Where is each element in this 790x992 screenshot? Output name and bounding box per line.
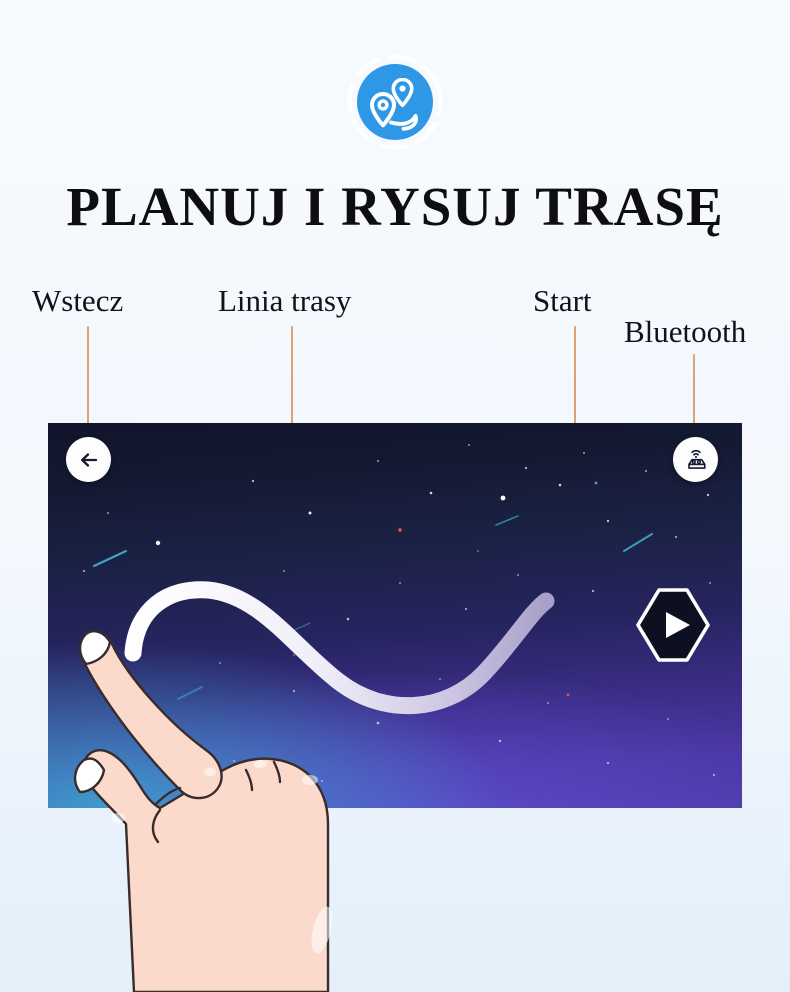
callout-label-bluetooth: Bluetooth bbox=[624, 314, 746, 350]
callout-label-linia-trasy: Linia trasy bbox=[218, 283, 351, 319]
route-pins-circle-icon bbox=[345, 52, 445, 152]
page-root: PLANUJ I RYSUJ TRASĘ Wstecz Linia trasy … bbox=[0, 0, 790, 992]
pointing-hand-illustration bbox=[60, 600, 420, 992]
callout-label-start: Start bbox=[533, 283, 592, 319]
logo-container bbox=[0, 52, 790, 152]
page-title: PLANUJ I RYSUJ TRASĘ bbox=[0, 176, 790, 238]
arrow-left-icon bbox=[77, 448, 101, 472]
bluetooth-button[interactable] bbox=[673, 437, 718, 482]
callout-label-wstecz: Wstecz bbox=[32, 283, 123, 319]
back-button[interactable] bbox=[66, 437, 111, 482]
start-button[interactable] bbox=[634, 586, 712, 664]
wireless-device-icon bbox=[682, 446, 710, 474]
